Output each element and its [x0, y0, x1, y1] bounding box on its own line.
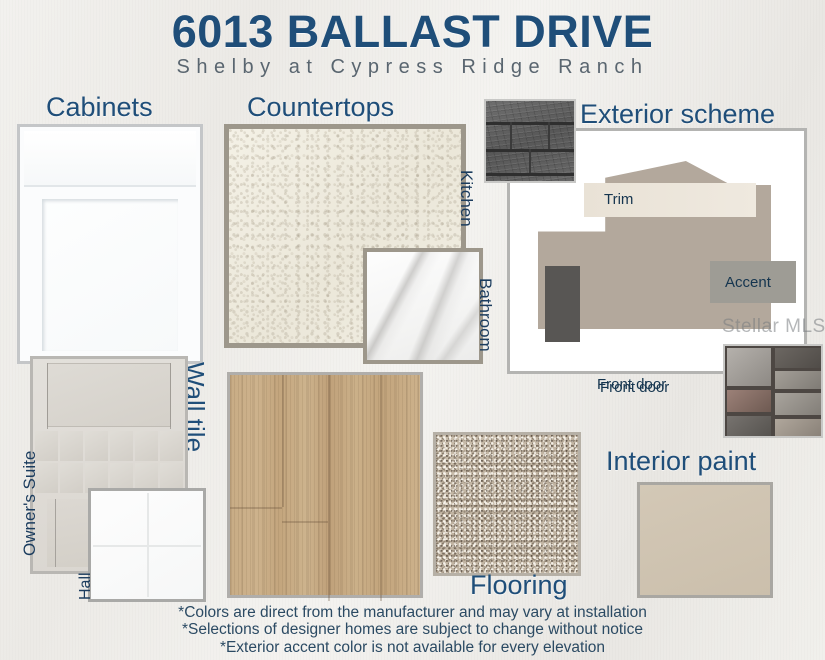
label-owners-suite: Owner's Suite [20, 451, 40, 556]
wall-tile-cell [60, 431, 83, 461]
stone-brick [727, 348, 771, 386]
plank-seam [328, 375, 330, 601]
label-bathroom: Bathroom [475, 278, 495, 352]
disclaimer: *Colors are direct from the manufacturer… [0, 604, 825, 657]
stellar-mls-watermark: Stellar MLS [722, 316, 825, 338]
hall-tile-seam [93, 545, 201, 547]
selection-board: 6013 BALLAST DRIVE Shelby at Cypress Rid… [0, 0, 825, 660]
disclaimer-line-2: *Selections of designer homes are subjec… [0, 621, 825, 639]
wall-tile-seam [55, 499, 56, 567]
disclaimer-line-1: *Colors are direct from the manufacturer… [0, 604, 825, 622]
label-kitchen: Kitchen [456, 170, 476, 227]
lvp-flooring-swatch [227, 372, 423, 598]
stone-brick [775, 393, 823, 415]
roof-shingle-swatch [484, 99, 576, 183]
label-accent: Accent [725, 274, 771, 291]
plank-seam [282, 521, 328, 523]
interior-paint-swatch [637, 482, 773, 598]
wall-tile-seam [47, 363, 48, 429]
plank-seam [380, 375, 382, 601]
section-heading-exterior-scheme: Exterior scheme [580, 99, 775, 130]
plank-seam [230, 507, 282, 509]
shingle-seam [486, 173, 574, 176]
plank-seam [282, 375, 284, 507]
carpet-flooring-swatch [433, 432, 581, 576]
stone-brick [775, 348, 823, 368]
page-subtitle: Shelby at Cypress Ridge Ranch [0, 56, 825, 79]
shingle-notch [510, 122, 512, 149]
wall-tile-cell [160, 431, 183, 461]
front-door-shape [545, 266, 580, 342]
front-door-caption: Front door [597, 376, 666, 393]
stone-brick [775, 371, 823, 389]
section-heading-flooring: Flooring [470, 570, 568, 601]
section-heading-countertops: Countertops [247, 92, 394, 123]
shingle-seam [486, 122, 574, 125]
cabinet-recessed-panel [42, 199, 178, 351]
shingle-notch [548, 122, 550, 149]
cabinet-top-rail [24, 131, 196, 187]
hall-wall-tile-swatch [88, 488, 206, 602]
wall-tile-cell [85, 431, 108, 461]
disclaimer-line-3: *Exterior accent color is not available … [0, 639, 825, 657]
stone-brick [727, 416, 771, 438]
stone-veneer-swatch [723, 344, 823, 438]
wall-tile-upper-band [47, 363, 171, 427]
page-title: 6013 BALLAST DRIVE [0, 6, 825, 58]
stone-brick [727, 390, 771, 412]
label-hall: Hall [77, 572, 95, 600]
label-trim: Trim [604, 191, 633, 208]
wall-tile-grid [35, 431, 183, 493]
section-heading-interior-paint: Interior paint [606, 446, 756, 477]
bathroom-countertop-swatch [363, 248, 483, 364]
wall-tile-cell [135, 431, 158, 461]
stone-brick [775, 419, 823, 438]
shingle-notch [529, 149, 531, 173]
wall-tile-cell [110, 431, 133, 461]
wall-tile-cell [60, 463, 83, 493]
section-heading-cabinets: Cabinets [46, 92, 153, 123]
wall-tile-seam [170, 363, 171, 429]
cabinet-door-swatch [17, 124, 203, 364]
